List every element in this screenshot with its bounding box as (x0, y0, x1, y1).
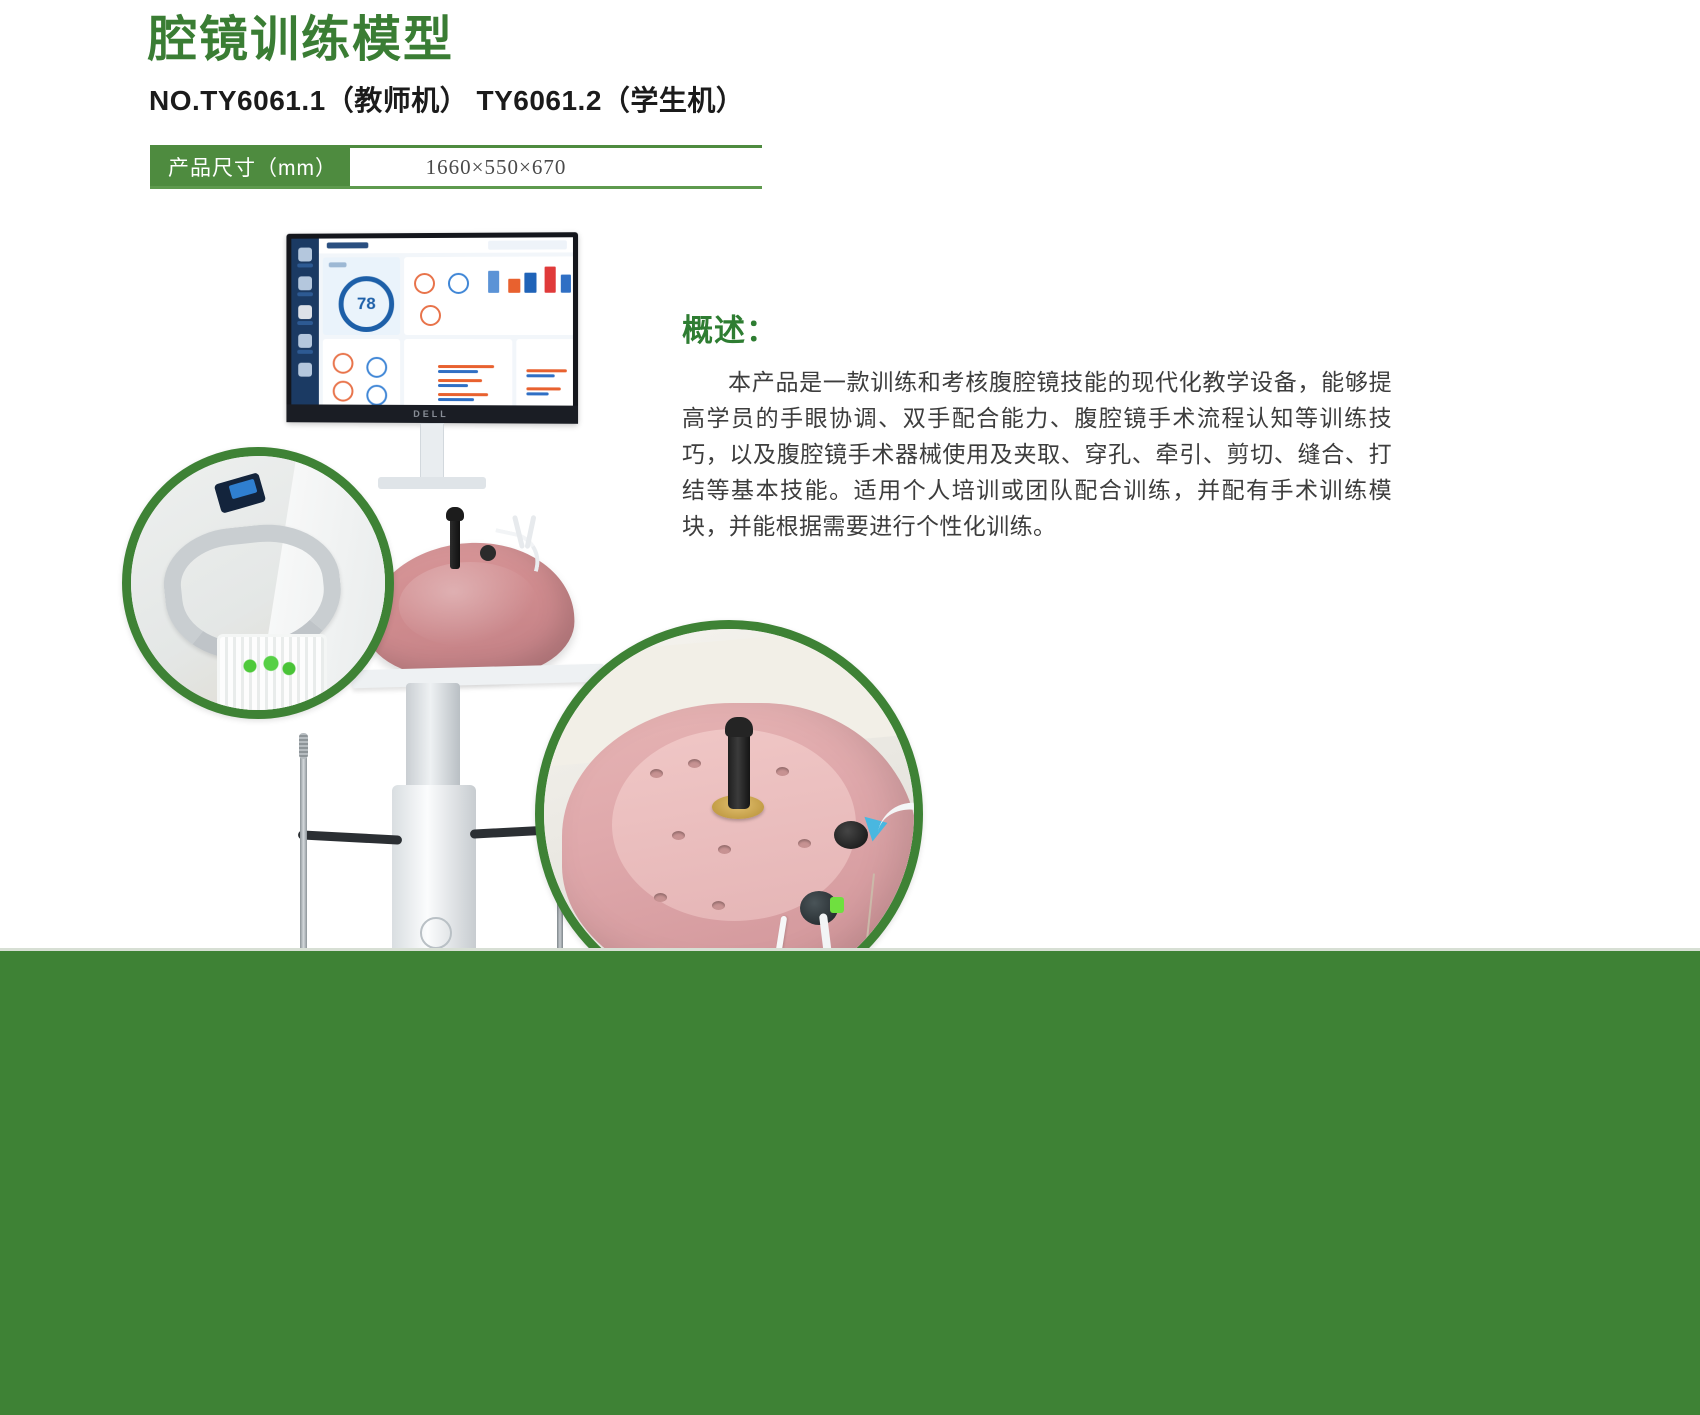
model-number-line: NO.TY6061.1（教师机） TY6061.2（学生机） (149, 79, 744, 119)
trocar-handle (728, 725, 750, 809)
port-hole (688, 759, 701, 768)
metric-bar (561, 275, 571, 293)
bar-row (438, 365, 494, 368)
metric-gauge (333, 381, 354, 402)
port-hole (654, 893, 667, 902)
score-card: 78 (323, 257, 400, 335)
tubing (877, 797, 923, 850)
catalog-page: 腔镜训练模型 NO.TY6061.1（教师机） TY6061.2（学生机） 产品… (0, 0, 1700, 1415)
spec-rule-bottom (150, 186, 762, 189)
port-hole (718, 845, 731, 854)
cart-power-button[interactable] (420, 917, 452, 949)
metrics-card (404, 256, 573, 335)
bar-row (526, 387, 560, 390)
monitor-screen: 78 (291, 237, 573, 405)
bar-row (526, 369, 566, 372)
storage-basket (217, 634, 327, 719)
metric-gauge (366, 357, 387, 378)
monitor-mount-plate (378, 477, 486, 489)
insufflation-valve (834, 821, 868, 849)
laparoscopic-scissors (512, 515, 542, 551)
cart-rail-left (298, 830, 402, 844)
metric-gauge (448, 273, 469, 294)
bar-row (526, 374, 554, 377)
spec-table: 产品尺寸（mm） 1660×550×670 (150, 145, 762, 189)
bar-row (438, 384, 468, 387)
spec-key-dimensions: 产品尺寸（mm） (150, 148, 350, 186)
results-icon (298, 305, 312, 319)
settings-icon (298, 363, 312, 377)
overview-heading: 概述： (682, 305, 1392, 350)
overview-body: 本产品是一款训练和考核腹腔镜技能的现代化教学设备，能够提高学员的手眼协调、双手配… (682, 364, 1392, 544)
screen-sidebar (291, 239, 319, 405)
table-row: 产品尺寸（mm） 1660×550×670 (150, 148, 762, 186)
bar-row (526, 392, 548, 395)
metric-bar (508, 279, 520, 293)
detail-card-left (323, 339, 400, 406)
port-hole (798, 839, 811, 848)
bar-row (438, 379, 482, 382)
bar-row (438, 393, 488, 396)
screen-user-chip (488, 240, 567, 249)
screen-app-title (327, 242, 369, 248)
port-hole (776, 767, 789, 776)
trocar-handle (450, 515, 460, 569)
users-icon (298, 276, 312, 290)
page-title: 腔镜训练模型 (148, 12, 454, 68)
metric-gauge (366, 385, 387, 406)
footer-green-band (0, 951, 1700, 1415)
monitor-brand-logo: DELL (413, 409, 448, 419)
port-hole (650, 769, 663, 778)
score-ring: 78 (339, 276, 395, 332)
metric-gauge (420, 305, 441, 326)
cart-column-upper (406, 683, 460, 791)
detail-card-middle (404, 339, 512, 406)
home-icon (298, 248, 312, 262)
bar-row (438, 370, 478, 373)
detail-inset-left (122, 447, 394, 719)
metric-bar (545, 267, 556, 293)
port-hole (672, 831, 685, 840)
metric-bar (488, 271, 499, 293)
port-hole (712, 901, 725, 910)
metric-gauge (333, 353, 354, 374)
report-icon (298, 334, 312, 348)
bar-row (438, 398, 474, 401)
monitor: 78 (286, 232, 578, 424)
metric-bar (524, 273, 536, 293)
monitor-bezel: DELL (286, 404, 578, 423)
overview-section: 概述： 本产品是一款训练和考核腹腔镜技能的现代化教学设备，能够提高学员的手眼协调… (682, 305, 1392, 544)
screen-dashboard: 78 (319, 252, 573, 405)
spec-value-dimensions: 1660×550×670 (350, 148, 762, 186)
score-card-label (329, 262, 347, 267)
metric-gauge (414, 273, 435, 294)
detail-card-right (516, 339, 573, 406)
